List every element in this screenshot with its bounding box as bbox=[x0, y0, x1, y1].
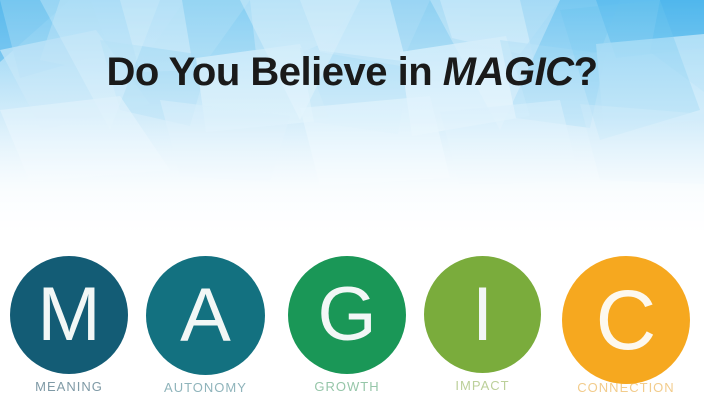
magic-item-growth[interactable]: G GROWTH bbox=[288, 256, 406, 394]
magic-circle-c[interactable]: C bbox=[562, 256, 690, 384]
magic-circle-i[interactable]: I bbox=[424, 256, 541, 373]
magic-letter-m: M bbox=[37, 277, 100, 353]
magic-circle-m[interactable]: M bbox=[10, 256, 128, 374]
title-prefix: Do You Believe in bbox=[106, 50, 442, 94]
magic-label-meaning: MEANING bbox=[10, 379, 128, 394]
magic-label-autonomy: AUTONOMY bbox=[146, 380, 265, 395]
magic-circle-g[interactable]: G bbox=[288, 256, 406, 374]
magic-letter-i: I bbox=[472, 277, 493, 353]
title-emphasis-magic: MAGIC bbox=[443, 50, 574, 94]
magic-item-impact[interactable]: I IMPACT bbox=[424, 256, 541, 393]
magic-item-autonomy[interactable]: A AUTONOMY bbox=[146, 256, 265, 395]
magic-item-meaning[interactable]: M MEANING bbox=[10, 256, 128, 394]
slide-canvas: Do You Believe in MAGIC? M MEANING A AUT… bbox=[0, 0, 704, 419]
slide-title: Do You Believe in MAGIC? bbox=[0, 52, 704, 92]
magic-label-growth: GROWTH bbox=[288, 379, 406, 394]
magic-item-connection[interactable]: C CONNECTION bbox=[562, 256, 690, 395]
magic-circle-a[interactable]: A bbox=[146, 256, 265, 375]
magic-label-impact: IMPACT bbox=[424, 378, 541, 393]
magic-letter-a: A bbox=[180, 278, 231, 354]
title-suffix: ? bbox=[574, 50, 598, 94]
magic-letter-g: G bbox=[317, 277, 376, 353]
magic-circles-row: M MEANING A AUTONOMY G GROWTH I IMPACT C bbox=[0, 256, 704, 419]
magic-letter-c: C bbox=[596, 278, 657, 362]
